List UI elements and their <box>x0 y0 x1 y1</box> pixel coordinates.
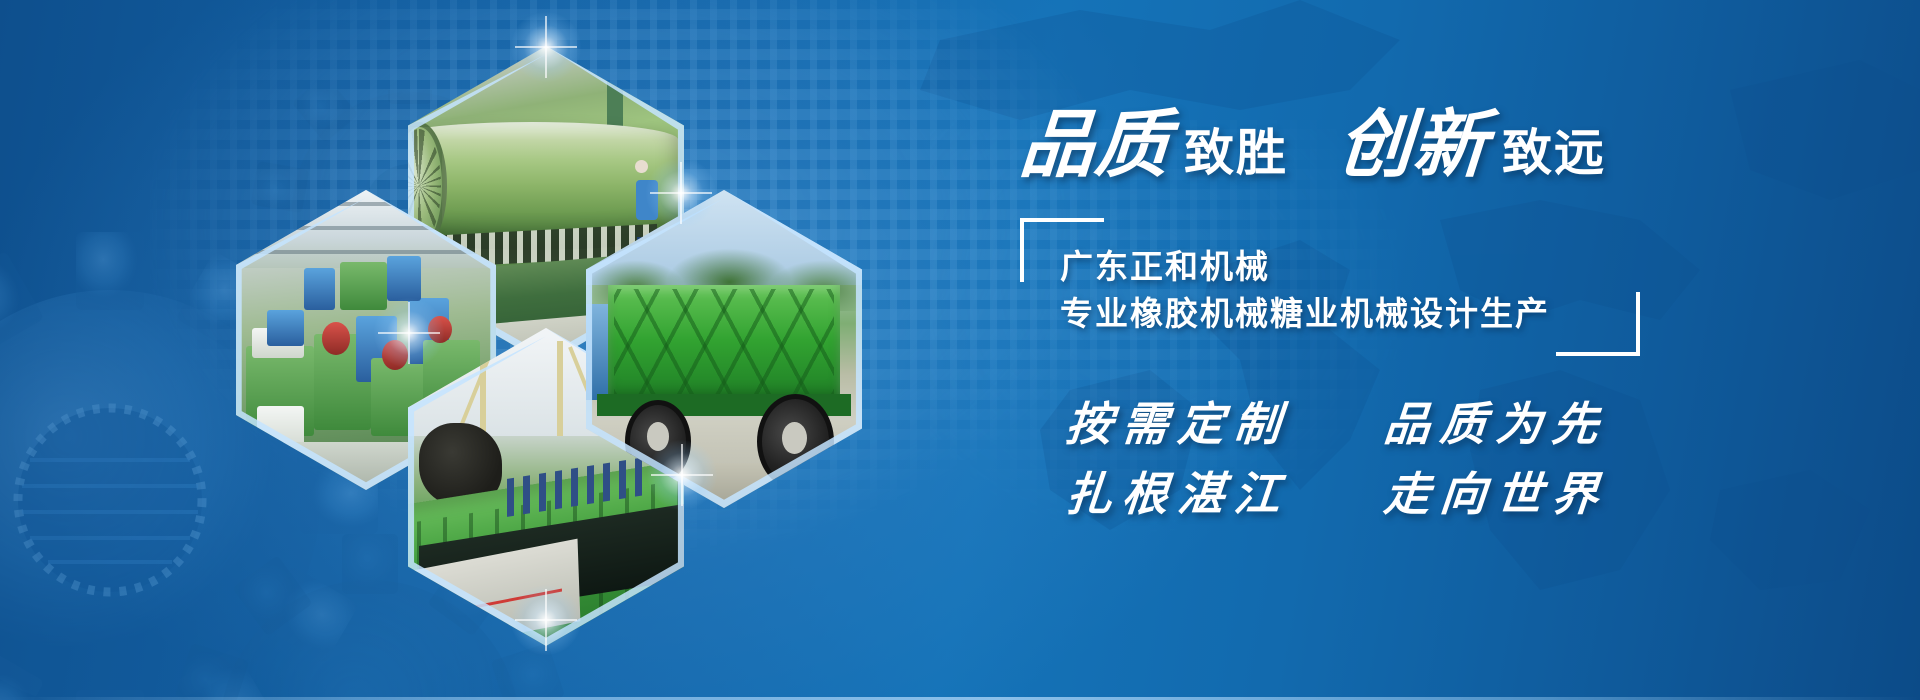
headline-part2-big: 创新 <box>1335 108 1490 182</box>
company-name-line1: 广东正和机械 <box>1060 244 1582 291</box>
hexagon-photo-cluster <box>196 40 896 650</box>
headline-part1-big: 品质 <box>1017 108 1172 182</box>
slogan-2-left: 扎根湛江 <box>1064 467 1293 521</box>
company-name-line2: 专业橡胶机械糖业机械设计生产 <box>1060 291 1582 338</box>
headline-part2-small: 致远 <box>1494 128 1610 182</box>
slogan-row-2: 扎根湛江 走向世界 <box>1063 460 1763 530</box>
headline: 品质 致胜 创新 致远 <box>1020 108 1760 182</box>
slogan-2-right: 走向世界 <box>1382 467 1611 521</box>
slogan-row-1: 按需定制 品质为先 <box>1063 390 1763 460</box>
headline-part1-small: 致胜 <box>1176 128 1292 182</box>
promo-banner: 品质 致胜 创新 致远 广东正和机械 专业橡胶机械糖业机械设计生产 按需定制 品… <box>0 0 1920 700</box>
company-bracket-box: 广东正和机械 专业橡胶机械糖业机械设计生产 <box>1020 218 1640 356</box>
corner-bracket-icon-top-left <box>1020 218 1104 282</box>
corner-bracket-icon-bottom-right <box>1556 292 1640 356</box>
slogan-list: 按需定制 品质为先 扎根湛江 走向世界 <box>1020 390 1760 530</box>
slogan-1-right: 品质为先 <box>1382 397 1611 451</box>
slogan-1-left: 按需定制 <box>1064 397 1293 451</box>
banner-copy: 品质 致胜 创新 致远 广东正和机械 专业橡胶机械糖业机械设计生产 按需定制 品… <box>1020 108 1760 530</box>
